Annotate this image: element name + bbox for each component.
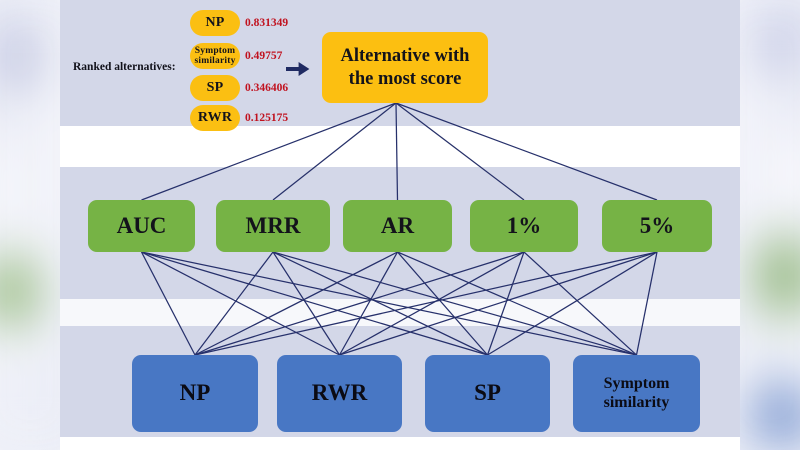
background-band [60, 437, 740, 450]
criteria-node[interactable]: 1% [470, 200, 578, 252]
criteria-node[interactable]: AUC [88, 200, 195, 252]
ranked-alternative-score: 0.831349 [245, 17, 288, 29]
criteria-node[interactable]: MRR [216, 200, 330, 252]
ranked-alternative-pill[interactable]: Symptom similarity [190, 43, 240, 69]
ranked-alternative-pill[interactable]: NP [190, 10, 240, 36]
background-band [60, 299, 740, 326]
slide-panel: Ranked alternatives: NP0.831349Symptom s… [60, 0, 740, 450]
ranked-alternative-score: 0.49757 [245, 50, 282, 62]
criteria-node[interactable]: AR [343, 200, 452, 252]
arrow-right-icon [286, 60, 310, 78]
ranked-alternative-pill[interactable]: SP [190, 75, 240, 101]
ranked-alternative-score: 0.346406 [245, 82, 288, 94]
ranked-alternative-pill[interactable]: RWR [190, 105, 240, 131]
alternative-node[interactable]: RWR [277, 355, 402, 432]
alternative-node[interactable]: SP [425, 355, 550, 432]
top-result-box[interactable]: Alternative with the most score [322, 32, 488, 103]
criteria-node[interactable]: 5% [602, 200, 712, 252]
diagram-canvas: Ranked alternatives: NP0.831349Symptom s… [0, 0, 800, 450]
alternative-node[interactable]: NP [132, 355, 258, 432]
background-band [60, 126, 740, 167]
ranked-alternative-score: 0.125175 [245, 112, 288, 124]
ranked-alternatives-label: Ranked alternatives: [73, 61, 176, 73]
alternative-node[interactable]: Symptom similarity [573, 355, 700, 432]
